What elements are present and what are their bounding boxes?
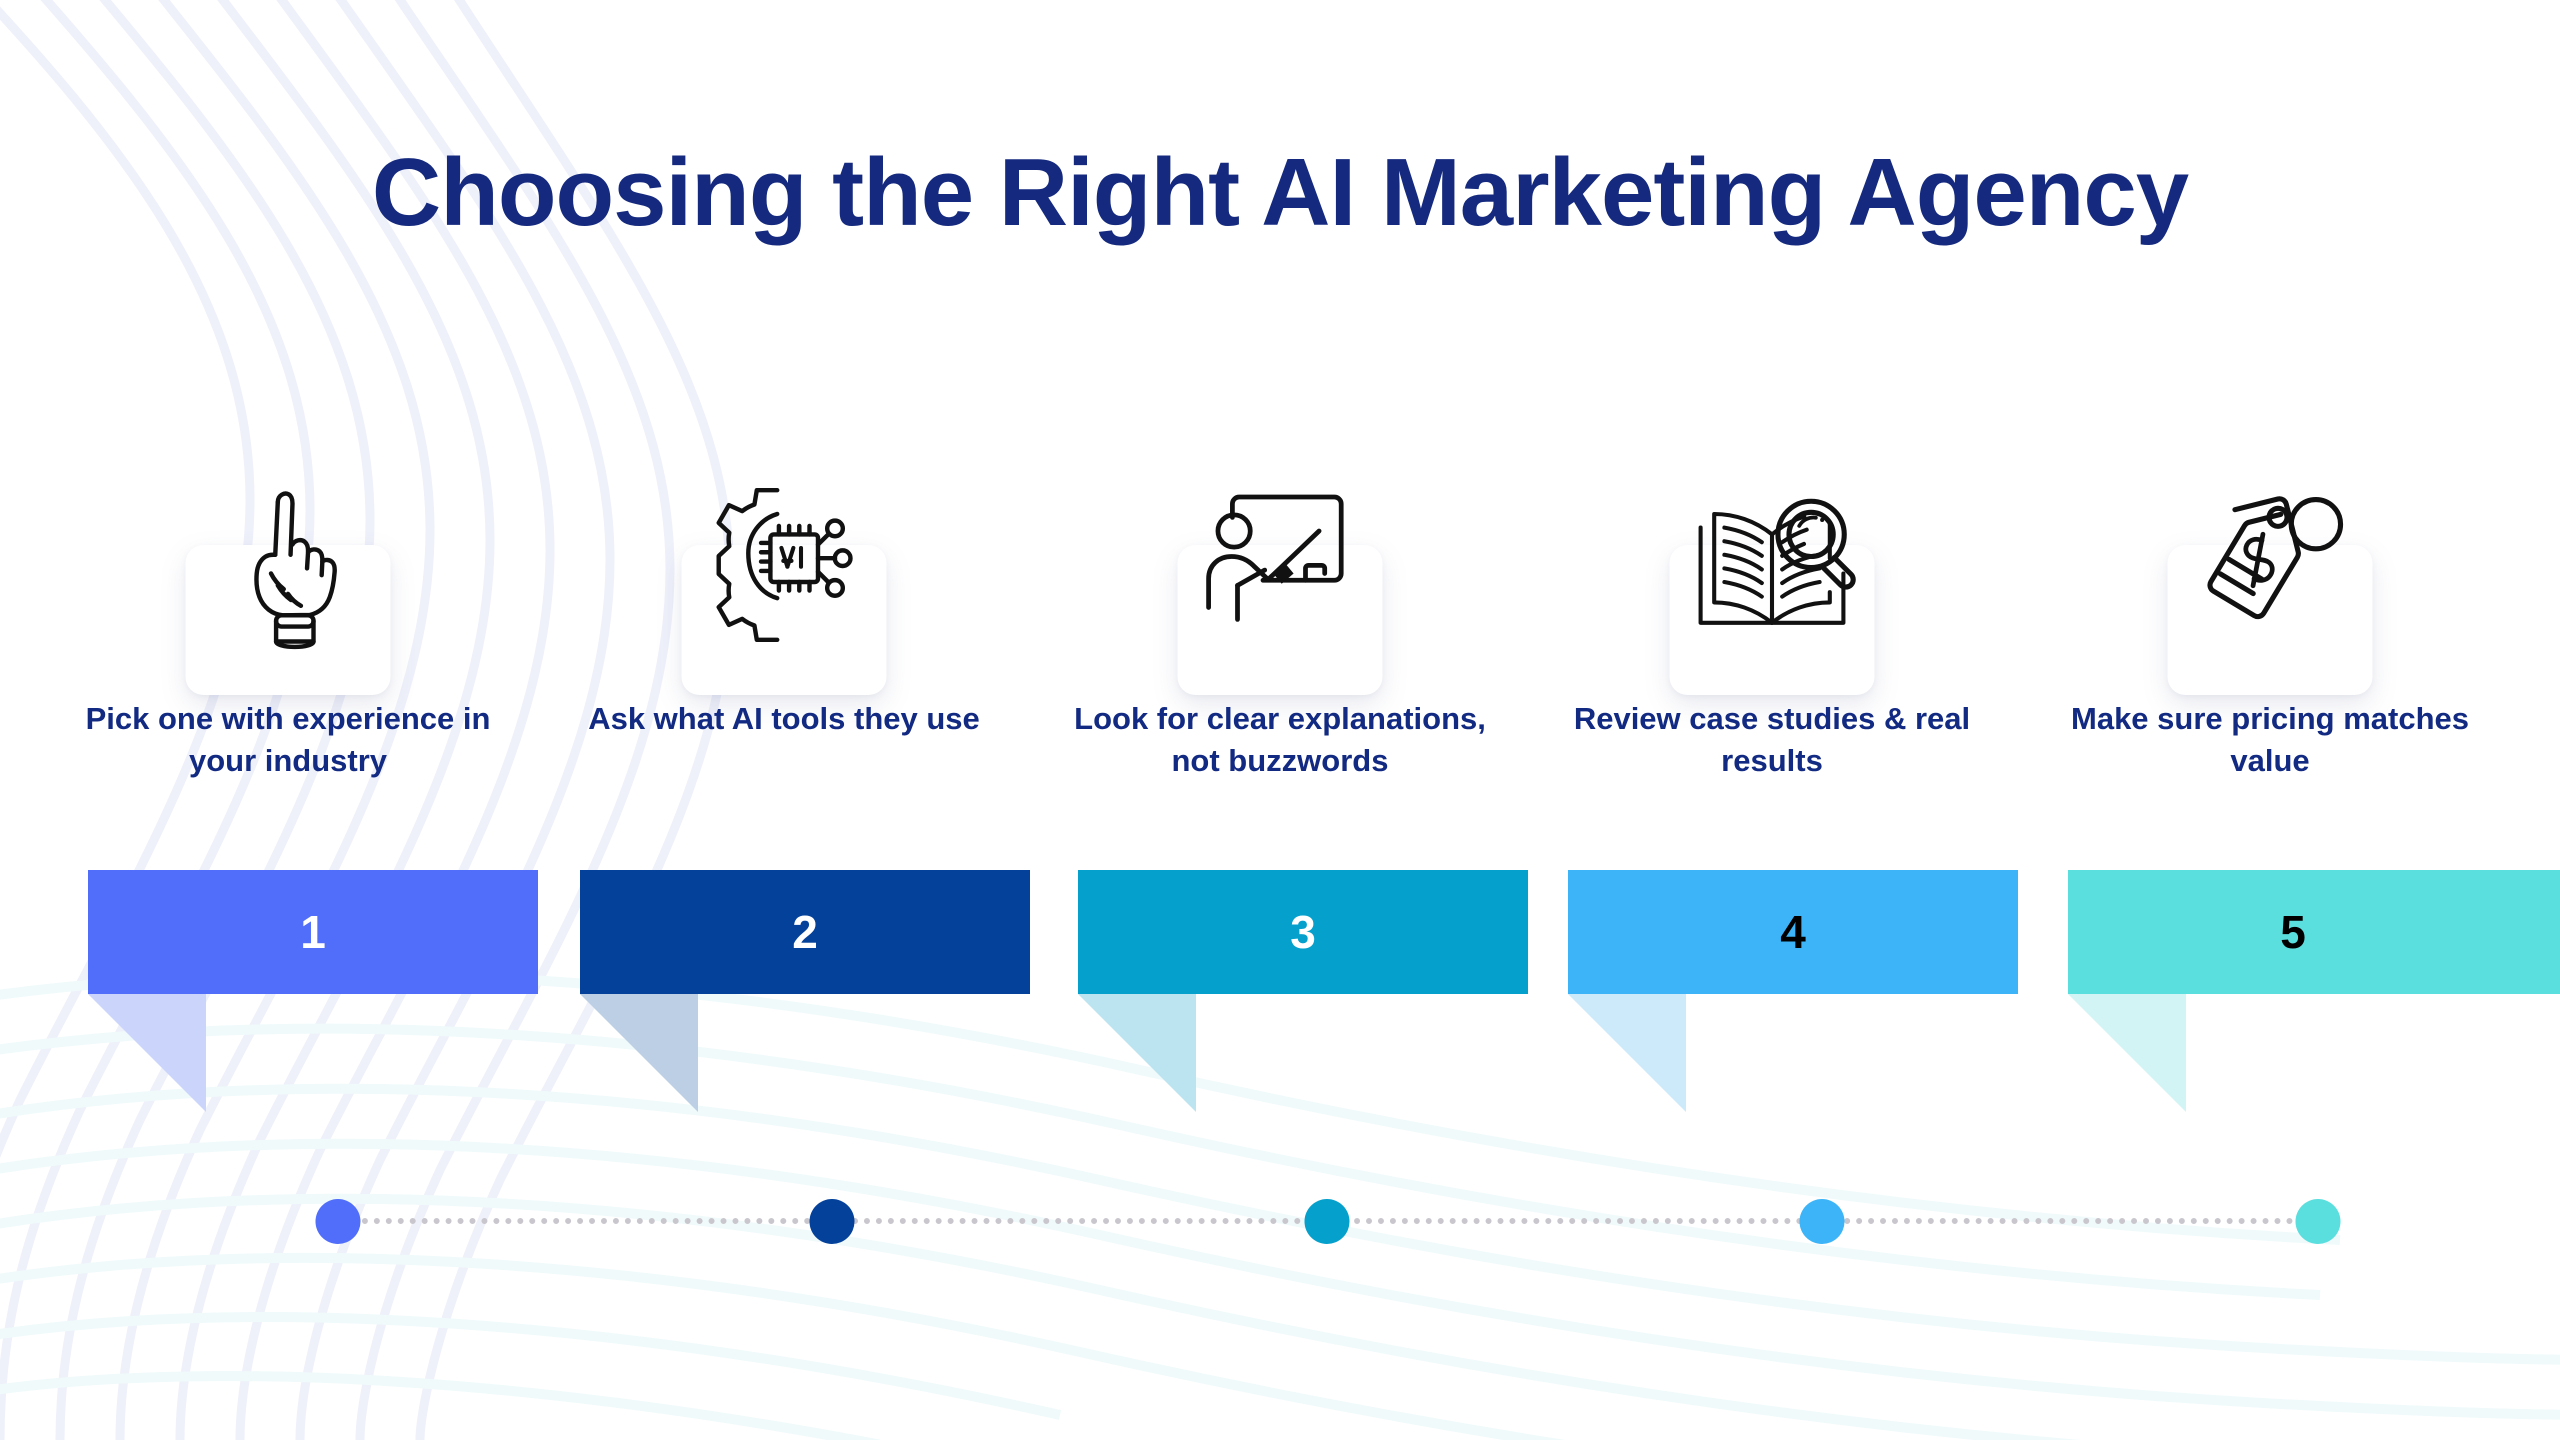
step-number-5: 5: [2280, 909, 2306, 955]
step-number-4: 4: [1780, 909, 1806, 955]
step-card-5[interactable]: Make sure pricing matches value 5: [2022, 470, 2518, 1170]
book-magnifier-icon: [1672, 470, 1872, 660]
page-title: Choosing the Right AI Marketing Agency: [0, 140, 2560, 246]
step-card-4[interactable]: Review case studies & real results 4: [1524, 470, 2020, 1170]
timeline-dot-5[interactable]: [2296, 1199, 2341, 1244]
step-label-5: Make sure pricing matches value: [2022, 698, 2518, 782]
presenter-whiteboard-icon: [1180, 470, 1380, 660]
step-card-3[interactable]: Look for clear explanations, not buzzwor…: [1032, 470, 1528, 1170]
timeline-dot-1[interactable]: [316, 1199, 361, 1244]
banner-fold-2: [580, 994, 698, 1112]
step-label-2: Ask what AI tools they use: [536, 698, 1032, 740]
step-number-3: 3: [1290, 909, 1316, 955]
step-banner-3[interactable]: 3: [1078, 870, 1528, 994]
progress-timeline: [0, 1185, 2560, 1255]
timeline-dot-3[interactable]: [1305, 1199, 1350, 1244]
step-banner-4[interactable]: 4: [1568, 870, 2018, 994]
price-tag-icon: [2170, 470, 2370, 660]
timeline-dot-4[interactable]: [1800, 1199, 1845, 1244]
ai-chip-gear-icon: [684, 470, 884, 660]
step-card-2[interactable]: Ask what AI tools they use 2: [536, 470, 1032, 1170]
step-banner-5[interactable]: 5: [2068, 870, 2560, 994]
pointing-up-hand-icon: [188, 470, 388, 660]
timeline-dot-2[interactable]: [810, 1199, 855, 1244]
step-number-2: 2: [792, 909, 818, 955]
step-banner-1[interactable]: 1: [88, 870, 538, 994]
step-banner-2[interactable]: 2: [580, 870, 1030, 994]
banner-fold-3: [1078, 994, 1196, 1112]
step-label-4: Review case studies & real results: [1524, 698, 2020, 782]
steps-row: Pick one with experience in your industr…: [0, 470, 2560, 1170]
banner-fold-5: [2068, 994, 2186, 1112]
banner-fold-1: [88, 994, 206, 1112]
banner-fold-4: [1568, 994, 1686, 1112]
step-label-1: Pick one with experience in your industr…: [40, 698, 536, 782]
step-number-1: 1: [300, 909, 326, 955]
step-card-1[interactable]: Pick one with experience in your industr…: [40, 470, 536, 1170]
step-label-3: Look for clear explanations, not buzzwor…: [1032, 698, 1528, 782]
